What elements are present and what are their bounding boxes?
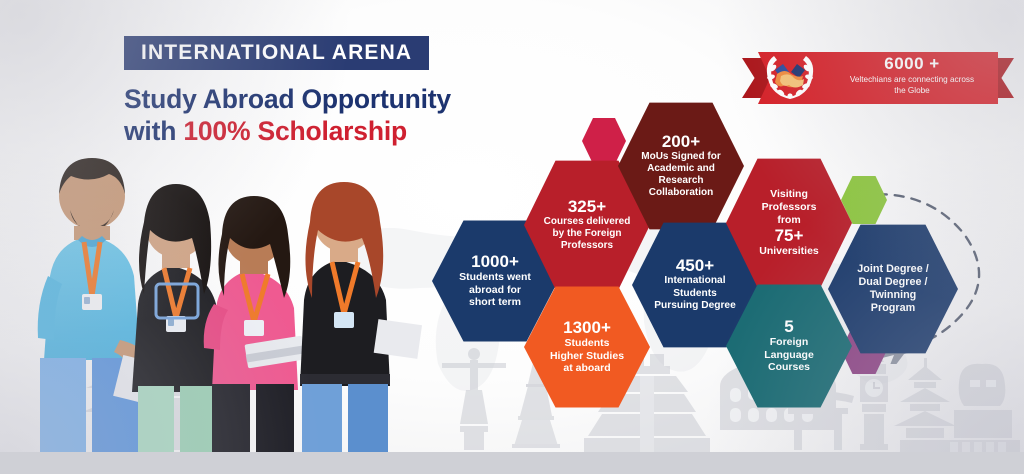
- hex-number: 75+: [732, 227, 846, 245]
- ribbon-banner: 6000 + Veltechians are connecting across…: [742, 52, 1014, 104]
- accent-hexagon-rose: [582, 117, 626, 165]
- hex-caption: Universities: [732, 245, 846, 258]
- ribbon-count: 6000 +: [820, 55, 1004, 74]
- hex-caption: Foreign Language Courses: [732, 336, 846, 374]
- hex-number: 1300+: [530, 319, 644, 337]
- landmark-christ-the-redeemer: [442, 348, 506, 450]
- hex-caption: International Students Pursuing Degree: [638, 275, 752, 312]
- hex-number: 325+: [530, 198, 644, 216]
- hex-caption: Joint Degree / Dual Degree / Twinning Pr…: [834, 263, 952, 316]
- page-title: Study Abroad Opportunity with 100% Schol…: [124, 83, 451, 148]
- students-photo: [18, 118, 438, 452]
- hex-number: 1000+: [438, 253, 552, 271]
- landmark-japanese-pagoda: [894, 358, 956, 452]
- handshake-laurel-icon: [764, 54, 816, 102]
- hex-number: 450+: [638, 257, 752, 275]
- title-highlight: 100% Scholarship: [183, 116, 407, 146]
- ribbon-caption-1: Veltechians are connecting across: [820, 75, 1004, 86]
- title-line-1: Study Abroad Opportunity: [124, 84, 451, 114]
- heading-block: INTERNATIONAL ARENA Study Abroad Opportu…: [124, 36, 451, 148]
- hex-caption: MoUs Signed for Academic and Research Co…: [624, 151, 738, 200]
- badge-international-arena: INTERNATIONAL ARENA: [124, 36, 429, 70]
- infographic-banner: INTERNATIONAL ARENA Study Abroad Opportu…: [0, 0, 1024, 474]
- hex-number: 5: [732, 318, 846, 336]
- landmark-sphinx: [946, 364, 1020, 452]
- student-4: [300, 182, 422, 452]
- ground-strip: [0, 452, 1024, 474]
- hex-caption-above: Visiting Professors from: [732, 188, 846, 226]
- ribbon-text: 6000 + Veltechians are connecting across…: [820, 55, 1004, 97]
- hex-caption: Students Higher Studies at aboard: [530, 337, 644, 375]
- ribbon-caption-2: the Globe: [820, 86, 1004, 97]
- title-line-2-prefix: with: [124, 116, 183, 146]
- hex-caption: Courses delivered by the Foreign Profess…: [530, 216, 644, 253]
- hex-caption: Students went abroad for short term: [438, 271, 552, 309]
- student-3: [204, 196, 306, 452]
- hex-number: 200+: [624, 133, 738, 151]
- student-1: [38, 158, 154, 452]
